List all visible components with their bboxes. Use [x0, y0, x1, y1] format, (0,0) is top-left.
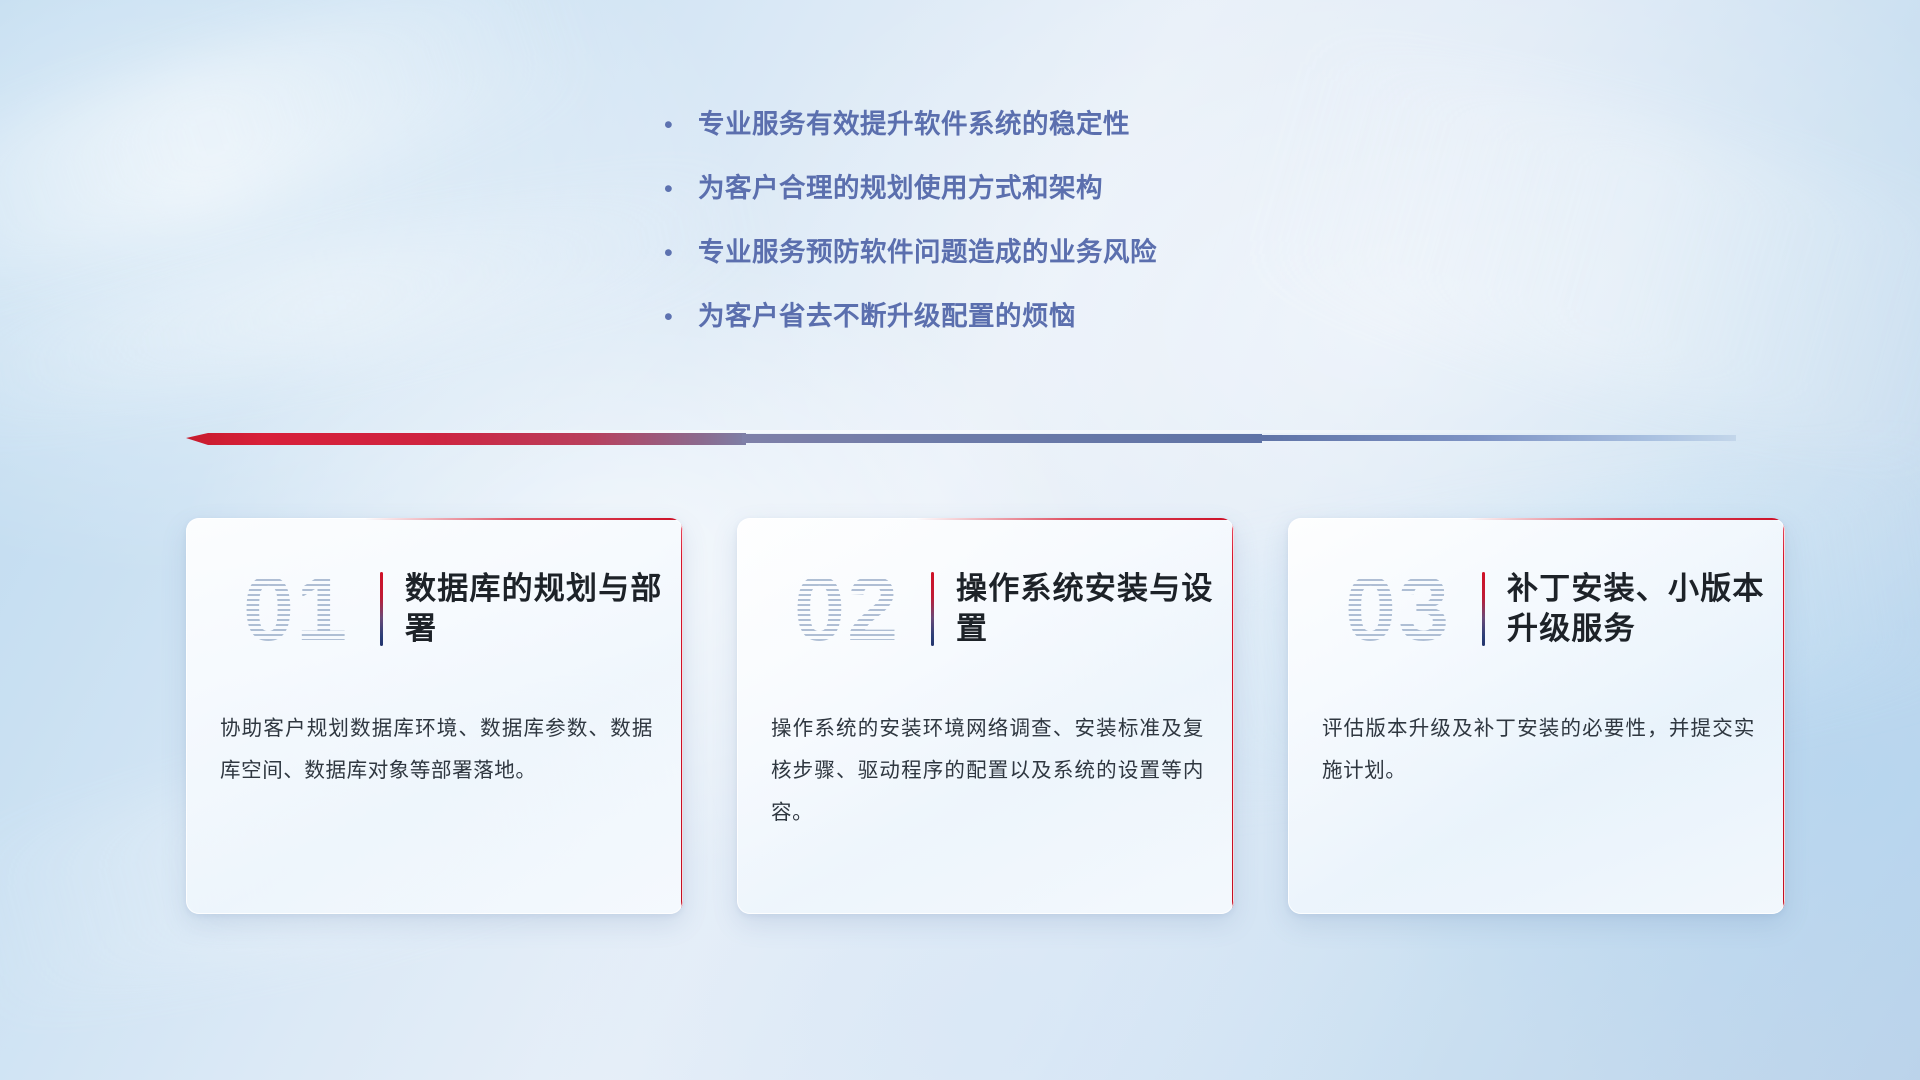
card-title: 补丁安装、小版本升级服务: [1507, 569, 1785, 650]
card-number-watermark: 02: [767, 554, 927, 664]
divider-gloss-highlight: [186, 430, 1736, 433]
divider-blue-segment: [1258, 435, 1736, 441]
card-title: 操作系统安装与设置: [956, 569, 1234, 650]
card-title: 数据库的规划与部署: [405, 569, 683, 650]
bullet-point-icon: •: [660, 113, 698, 138]
service-card-01[interactable]: 01 数据库的规划与部署 协助客户规划数据库环境、数据库参数、数据库空间、数据库…: [186, 518, 683, 914]
card-body-text: 协助客户规划数据库环境、数据库参数、数据库空间、数据库对象等部署落地。: [220, 708, 653, 792]
card-accent-bar: [1482, 572, 1485, 646]
benefits-bullet-list: • 专业服务有效提升软件系统的稳定性 • 为客户合理的规划使用方式和架构 • 专…: [660, 108, 1420, 365]
bullet-text: 专业服务有效提升软件系统的稳定性: [698, 108, 1130, 141]
card-body-text: 评估版本升级及补丁安装的必要性，并提交实施计划。: [1322, 708, 1755, 792]
service-card-03[interactable]: 03 补丁安装、小版本升级服务 评估版本升级及补丁安装的必要性，并提交实施计划。: [1288, 518, 1785, 914]
card-header: 01 数据库的规划与部署: [186, 546, 683, 672]
card-accent-bar: [931, 572, 934, 646]
bullet-point-icon: •: [660, 177, 698, 202]
divider-mid-segment: [742, 434, 1262, 443]
card-header: 02 操作系统安装与设置: [737, 546, 1234, 672]
card-header: 03 补丁安装、小版本升级服务: [1288, 546, 1785, 672]
list-item: • 专业服务预防软件问题造成的业务风险: [660, 236, 1420, 269]
card-accent-bar: [380, 572, 383, 646]
bullet-text: 为客户省去不断升级配置的烦恼: [698, 300, 1076, 333]
bullet-text: 专业服务预防软件问题造成的业务风险: [698, 236, 1157, 269]
bullet-point-icon: •: [660, 305, 698, 330]
list-item: • 为客户合理的规划使用方式和架构: [660, 172, 1420, 205]
card-number-watermark: 03: [1318, 554, 1478, 664]
card-number-watermark: 01: [216, 554, 376, 664]
background-light-streak: [0, 0, 604, 327]
slide-canvas: • 专业服务有效提升软件系统的稳定性 • 为客户合理的规划使用方式和架构 • 专…: [0, 0, 1920, 1080]
list-item: • 为客户省去不断升级配置的烦恼: [660, 300, 1420, 333]
divider-red-segment: [186, 433, 746, 445]
list-item: • 专业服务有效提升软件系统的稳定性: [660, 108, 1420, 141]
bullet-point-icon: •: [660, 241, 698, 266]
section-divider: [186, 430, 1736, 452]
bullet-text: 为客户合理的规划使用方式和架构: [698, 172, 1103, 205]
card-body-text: 操作系统的安装环境网络调查、安装标准及复核步骤、驱动程序的配置以及系统的设置等内…: [771, 708, 1204, 834]
service-card-02[interactable]: 02 操作系统安装与设置 操作系统的安装环境网络调查、安装标准及复核步骤、驱动程…: [737, 518, 1234, 914]
service-card-row: 01 数据库的规划与部署 协助客户规划数据库环境、数据库参数、数据库空间、数据库…: [0, 518, 1920, 938]
